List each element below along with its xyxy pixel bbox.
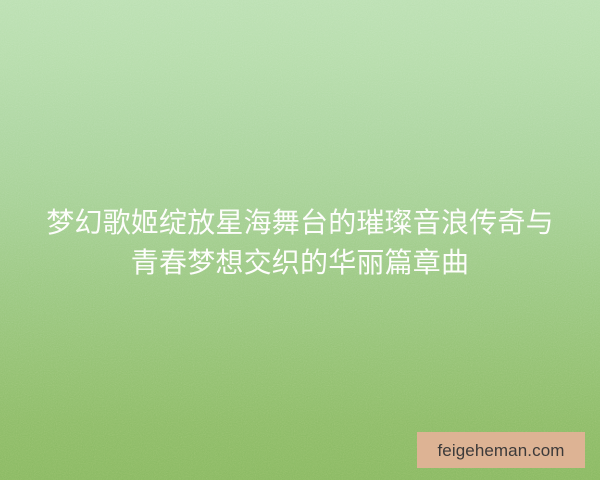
title-line-1: 梦幻歌姬绽放星海舞台的璀璨音浪传奇与	[14, 203, 586, 243]
image-canvas: 梦幻歌姬绽放星海舞台的璀璨音浪传奇与 青春梦想交织的华丽篇章曲 feigehem…	[0, 0, 600, 480]
title-line-2: 青春梦想交织的华丽篇章曲	[14, 243, 586, 283]
watermark-label: feigeheman.com	[437, 442, 564, 459]
watermark-badge: feigeheman.com	[417, 432, 585, 468]
page-title: 梦幻歌姬绽放星海舞台的璀璨音浪传奇与 青春梦想交织的华丽篇章曲	[0, 203, 600, 283]
